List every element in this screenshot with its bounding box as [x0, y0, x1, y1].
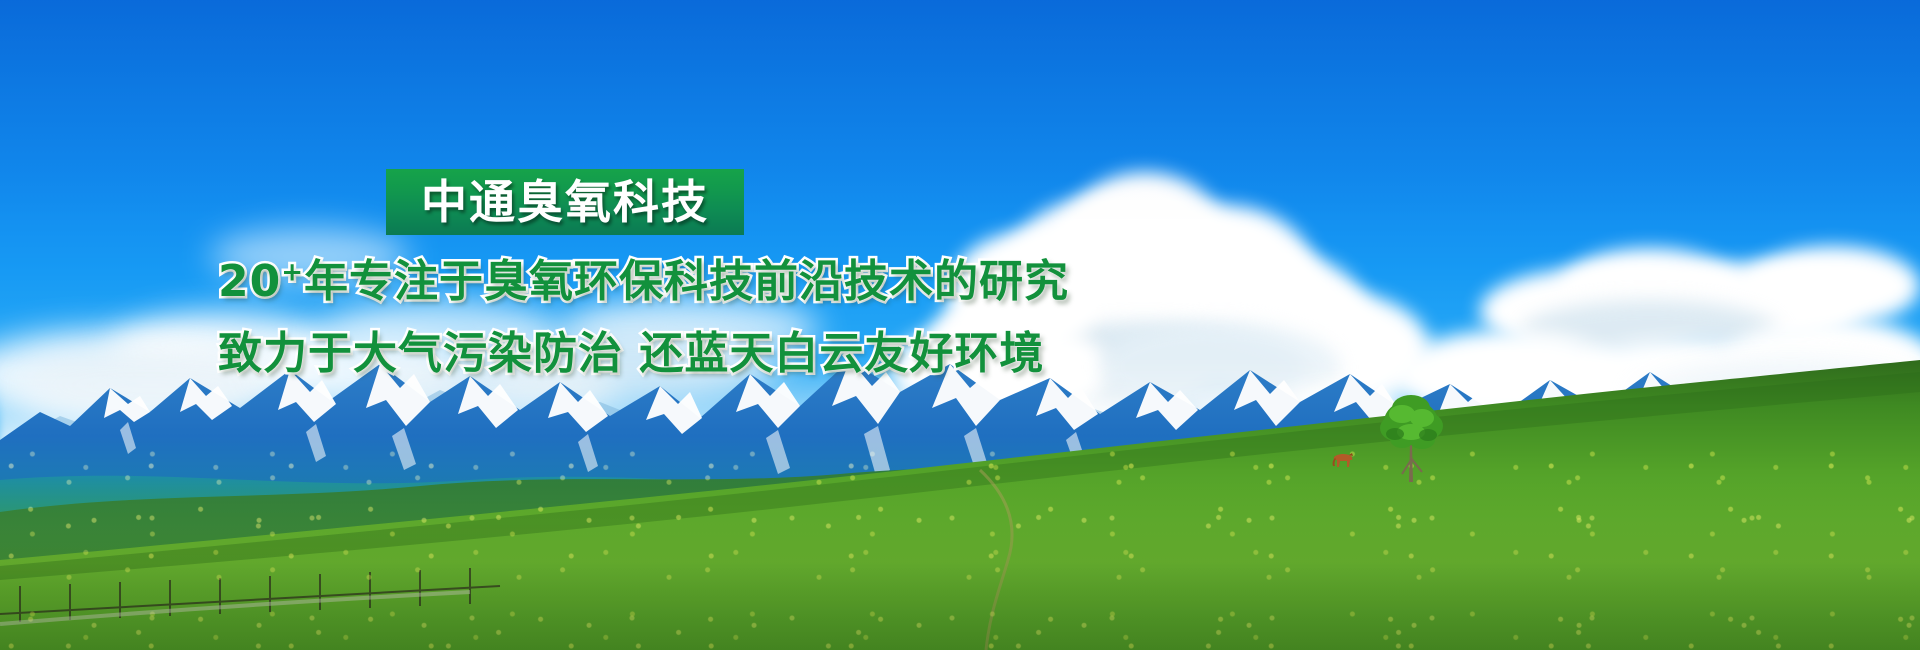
- tagline-line-1: 20+年专注于臭氧环保科技前沿技术的研究: [218, 260, 1069, 304]
- brand-title-plate[interactable]: 中通臭氧科技: [386, 169, 744, 235]
- meadow-landscape: [0, 0, 1920, 650]
- tagline-line-2: 致力于大气污染防治 还蓝天白云友好环境: [218, 332, 1044, 376]
- tagline-plus-superscript: +: [281, 257, 304, 287]
- tagline-years-number: 20: [218, 256, 281, 307]
- meadow-hill: [0, 0, 1920, 650]
- tagline-line-1-rest: 年专注于臭氧环保科技前沿技术的研究: [304, 256, 1069, 307]
- hero-banner: 中通臭氧科技 20+年专注于臭氧环保科技前沿技术的研究 致力于大气污染防治 还蓝…: [0, 0, 1920, 650]
- brand-title-text: 中通臭氧科技: [421, 179, 709, 225]
- grazing-horse-icon: [1330, 449, 1356, 469]
- lone-tree-icon: [1372, 392, 1450, 482]
